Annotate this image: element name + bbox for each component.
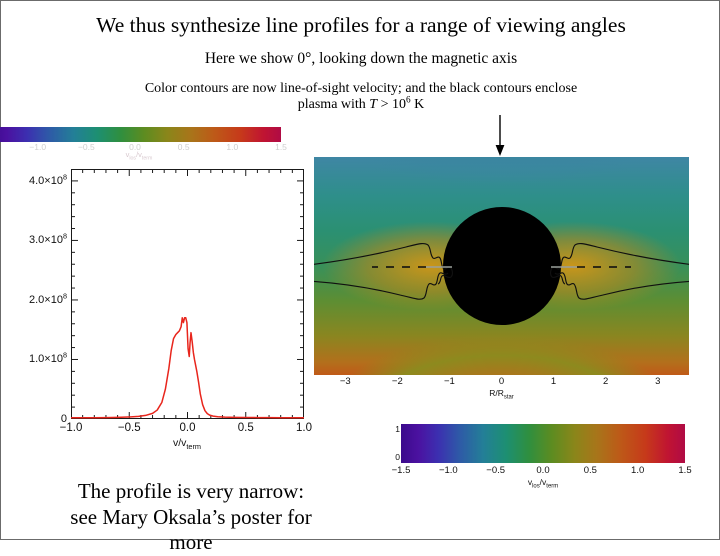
bottom-colorbar-tick: 1.0 xyxy=(631,465,644,476)
sim-x-tick-label: 2 xyxy=(603,376,608,387)
bottom-note: The profile is very narrow: see Mary Oks… xyxy=(11,479,371,556)
x-axis-tick-label: −1.0 xyxy=(60,422,83,434)
colorbar-vertical-tick: 0 xyxy=(395,452,400,462)
temperature-symbol: T xyxy=(369,97,377,112)
slide-canvas: { "slide": { "title": "We thus synthesiz… xyxy=(0,0,720,540)
bottom-colorbar-tick: 0.5 xyxy=(584,465,597,476)
y-axis-title: Flux xyxy=(0,290,1,310)
bottom-colorbar-tick: 1.5 xyxy=(678,465,691,476)
sim-x-tick-label: 3 xyxy=(655,376,660,387)
subtitle-line-1: Color contours are now line-of-sight vel… xyxy=(56,81,666,97)
bottom-colorbar-tick: −1.5 xyxy=(392,465,411,476)
top-colorbar-tick: −0.5 xyxy=(78,142,95,152)
line-profile-canvas xyxy=(71,169,304,419)
top-colorbar-tick: 0.5 xyxy=(178,142,190,152)
x-axis-tick-label: 1.0 xyxy=(296,422,312,434)
bottom-colorbar: 10 −1.5−1.0−0.50.00.51.01.5 vlos/vterm xyxy=(393,424,693,490)
colorbar-vertical-tick: 1 xyxy=(395,424,400,434)
sim-x-tick-label: 1 xyxy=(551,376,556,387)
temperature-contours xyxy=(314,157,689,375)
top-colorbar: −1.5−1.0−0.50.00.51.01.5 vlos/vterm xyxy=(0,127,281,159)
sim-x-tick-label: 0 xyxy=(499,376,504,387)
top-colorbar-tick: 1.5 xyxy=(275,142,287,152)
y-axis-tick-label: 3.0×108 xyxy=(29,234,67,246)
x-axis-title: v/vterm xyxy=(173,437,201,449)
y-axis-tick-label: 1.0×108 xyxy=(29,353,67,365)
y-axis-tick-label: 4.0×108 xyxy=(29,175,67,187)
sim-x-axis: −3−2−10123 R/Rstar xyxy=(314,375,689,405)
x-axis-tick-label: 0.0 xyxy=(180,422,196,434)
sim-x-axis-title: R/Rstar xyxy=(489,388,514,398)
top-colorbar-tick: 1.0 xyxy=(226,142,238,152)
page-title: We thus synthesize line profiles for a r… xyxy=(1,13,720,37)
plasma-text-post: K xyxy=(411,97,425,112)
line-profile-chart: 01.0×1082.0×1083.0×1084.0×108 −1.0−0.50.… xyxy=(1,159,321,449)
plasma-text-pre: plasma with xyxy=(298,97,370,112)
subtitle-viewing-angle: Here we show 0°, looking down the magnet… xyxy=(1,50,720,67)
bottom-colorbar-tick: 0.0 xyxy=(536,465,549,476)
y-axis-tick-label: 2.0×108 xyxy=(29,294,67,306)
bottom-colorbar-label: vlos/vterm xyxy=(528,477,558,487)
bottom-colorbar-tick: −0.5 xyxy=(486,465,505,476)
sim-x-tick-label: −3 xyxy=(340,376,351,387)
subtitle-line-2: plasma with T > 106 K xyxy=(56,97,666,113)
plasma-text-mid: > 10 xyxy=(377,97,406,112)
bottom-colorbar-tick: −1.0 xyxy=(439,465,458,476)
bottom-note-line-3: more xyxy=(11,530,371,556)
sim-x-tick-label: −1 xyxy=(444,376,455,387)
top-colorbar-gradient xyxy=(0,127,281,142)
colorbar-vertical-ticks: 10 xyxy=(393,424,400,463)
velocity-map-panel: −3−2−10123 R/Rstar xyxy=(314,157,689,375)
bottom-colorbar-gradient xyxy=(401,424,685,463)
bottom-note-line-2: see Mary Oksala’s poster for xyxy=(11,505,371,531)
bottom-note-line-1: The profile is very narrow: xyxy=(11,479,371,505)
x-axis-tick-label: −0.5 xyxy=(118,422,141,434)
down-arrow-icon xyxy=(493,115,507,157)
velocity-heatmap-image xyxy=(314,157,689,375)
sim-x-tick-label: −2 xyxy=(392,376,403,387)
x-axis-tick-label: 0.5 xyxy=(238,422,254,434)
top-colorbar-tick: −1.0 xyxy=(29,142,46,152)
top-colorbar-label: vlos/vterm xyxy=(126,150,153,159)
subtitle-contour-description: Color contours are now line-of-sight vel… xyxy=(56,81,666,112)
y-axis-tick-labels: 01.0×1082.0×1083.0×1084.0×108 xyxy=(1,169,67,419)
